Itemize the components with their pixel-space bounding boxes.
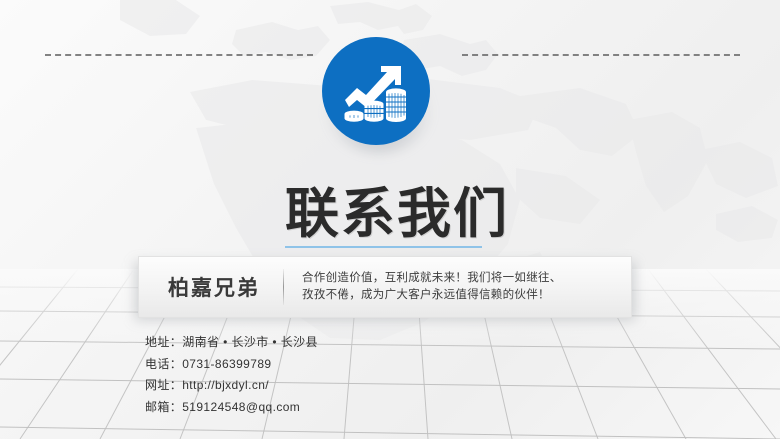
title-underline: [285, 246, 482, 248]
contact-email[interactable]: 邮箱：519124548@qq.com: [145, 397, 318, 419]
company-name: 柏嘉兄弟: [149, 272, 279, 302]
coin-stacks-growth-arrow-icon: [343, 60, 409, 122]
page-title: 联系我们: [285, 186, 509, 242]
info-card: 柏嘉兄弟 合作创造价值，互利成就未来！我们将一如继往、 孜孜不倦，成为广大客户永…: [138, 256, 632, 318]
contact-list: 地址：湖南省 • 长沙市 • 长沙县 电话：0731-86399789 网址：h…: [145, 332, 318, 418]
slogan-line-2: 孜孜不倦，成为广大客户永远值得信赖的伙伴！: [302, 287, 562, 304]
contact-website[interactable]: 网址：http://bjxdyl.cn/: [145, 375, 318, 397]
contact-address: 地址：湖南省 • 长沙市 • 长沙县: [145, 332, 318, 354]
badge-circle: [322, 37, 430, 145]
dashed-rule-left: [45, 54, 313, 56]
contact-slide: 联系我们 柏嘉兄弟 合作创造价值，互利成就未来！我们将一如继往、 孜孜不倦，成为…: [0, 0, 780, 439]
slogan-line-1: 合作创造价值，互利成就未来！我们将一如继往、: [302, 270, 562, 287]
contact-phone: 电话：0731-86399789: [145, 354, 318, 376]
dashed-rule-right: [462, 54, 740, 56]
company-slogan: 合作创造价值，互利成就未来！我们将一如继往、 孜孜不倦，成为广大客户永远值得信赖…: [302, 270, 562, 304]
card-divider: [283, 269, 284, 305]
